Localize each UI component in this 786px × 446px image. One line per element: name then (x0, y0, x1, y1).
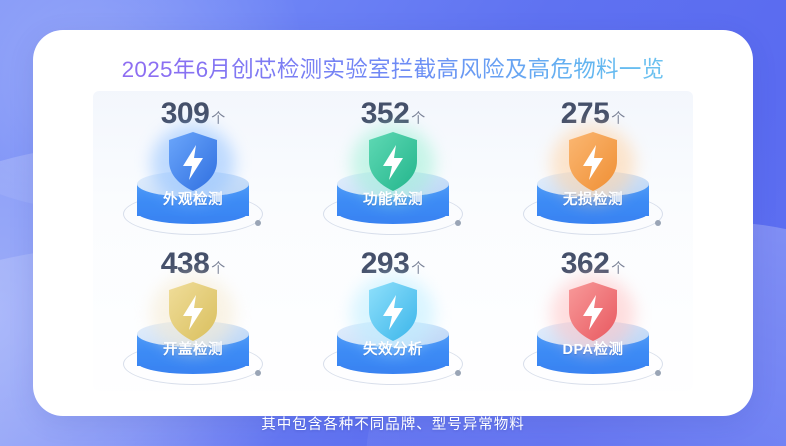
pedestal-floor-dot (455, 220, 461, 226)
metric-label: 失效分析 (337, 338, 449, 359)
metric-card[interactable]: 293 个 (293, 241, 493, 391)
metric-card[interactable]: 362 个 (493, 241, 693, 391)
metric-pedestal: 无损检测 (517, 133, 669, 237)
metric-card[interactable]: 275 个 (493, 91, 693, 241)
content-card: 2025年6月创芯检测实验室拦截高风险及高危物料一览 309 个 (33, 30, 753, 416)
pedestal-floor-dot (655, 370, 661, 376)
metric-label: DPA检测 (537, 338, 649, 359)
page-title: 2025年6月创芯检测实验室拦截高风险及高危物料一览 (33, 52, 753, 84)
shield-bolt-icon (367, 131, 419, 193)
metric-card[interactable]: 352 个 (293, 91, 493, 241)
slide-root: 2025年6月创芯检测实验室拦截高风险及高危物料一览 309 个 (0, 0, 786, 446)
shield-bolt-icon (167, 131, 219, 193)
metric-pedestal: DPA检测 (517, 283, 669, 387)
metric-label: 外观检测 (137, 188, 249, 209)
metric-label: 开盖检测 (137, 338, 249, 359)
metric-pedestal: 开盖检测 (117, 283, 269, 387)
pedestal-floor-dot (255, 370, 261, 376)
metric-card[interactable]: 438 个 (93, 241, 293, 391)
metric-label: 功能检测 (337, 188, 449, 209)
shield-bolt-icon (567, 131, 619, 193)
metric-pedestal: 外观检测 (117, 133, 269, 237)
pedestal-floor-dot (255, 220, 261, 226)
metric-label: 无损检测 (537, 188, 649, 209)
metrics-grid: 309 个 (93, 91, 693, 391)
pedestal-floor-dot (455, 370, 461, 376)
shield-bolt-icon (367, 281, 419, 343)
metric-pedestal: 功能检测 (317, 133, 469, 237)
shield-bolt-icon (167, 281, 219, 343)
pedestal-floor-dot (655, 220, 661, 226)
metric-card[interactable]: 309 个 (93, 91, 293, 241)
shield-bolt-icon (567, 281, 619, 343)
footer-note: 其中包含各种不同品牌、型号异常物料 (0, 413, 786, 434)
metric-pedestal: 失效分析 (317, 283, 469, 387)
